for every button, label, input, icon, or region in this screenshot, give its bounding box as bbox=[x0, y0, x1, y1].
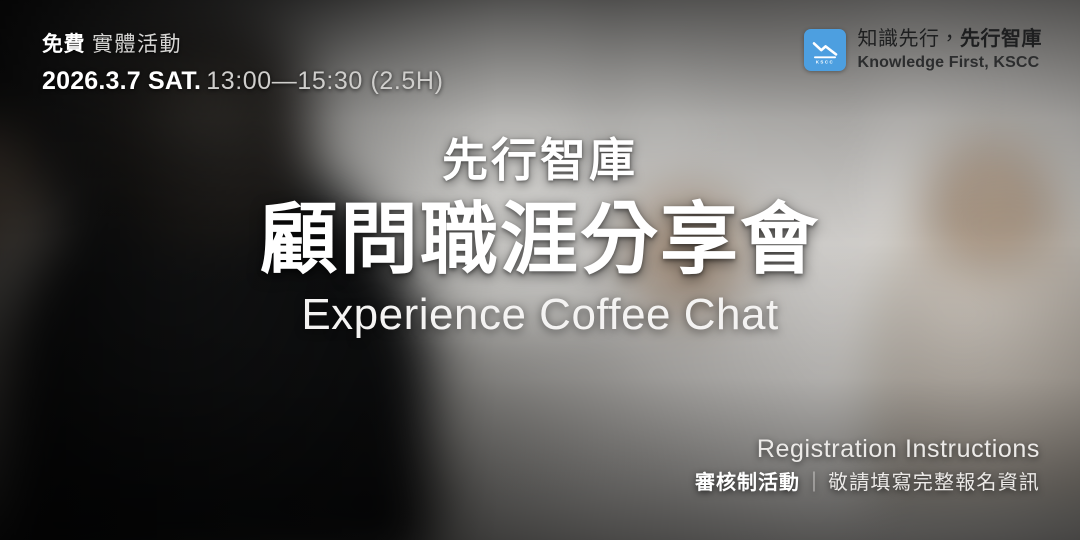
free-badge: 免費 bbox=[42, 33, 85, 56]
brand-logo-text: 知識先行，先行智庫 Knowledge First, KSCC bbox=[858, 27, 1043, 73]
brand-name-cn-bold: 先行智庫 bbox=[960, 28, 1042, 50]
event-type-line: 免費實體活動 bbox=[42, 32, 444, 59]
banner-content: 免費實體活動 2026.3.7 SAT.13:00—15:30 (2.5H) K… bbox=[0, 0, 1080, 540]
brand-name-en: Knowledge First, KSCC bbox=[858, 53, 1043, 73]
headline-stack: 先行智庫 顧問職涯分享會 Experience Coffee Chat bbox=[0, 136, 1080, 339]
event-meta-block: 免費實體活動 2026.3.7 SAT.13:00—15:30 (2.5H) bbox=[42, 32, 444, 97]
headline-subtitle: Experience Coffee Chat bbox=[0, 291, 1080, 339]
registration-heading-en: Registration Instructions bbox=[695, 433, 1040, 466]
registration-review-label: 審核制活動 bbox=[695, 472, 800, 494]
registration-separator: ｜ bbox=[804, 472, 824, 494]
format-label: 實體活動 bbox=[92, 33, 182, 56]
kscc-chart-mark-icon: KSCC bbox=[804, 29, 846, 71]
event-datetime-line: 2026.3.7 SAT.13:00—15:30 (2.5H) bbox=[42, 65, 444, 97]
event-time: 13:00—15:30 (2.5H) bbox=[206, 67, 443, 95]
headline-brand: 先行智庫 bbox=[0, 136, 1080, 186]
registration-instruction: 敬請填寫完整報名資訊 bbox=[828, 472, 1040, 494]
registration-block: Registration Instructions 審核制活動｜敬請填寫完整報名… bbox=[695, 433, 1040, 497]
headline-title: 顧問職涯分享會 bbox=[0, 196, 1080, 283]
brand-name-cn-light: 知識先行， bbox=[858, 28, 961, 50]
svg-text:KSCC: KSCC bbox=[815, 59, 833, 64]
event-banner: 免費實體活動 2026.3.7 SAT.13:00—15:30 (2.5H) K… bbox=[0, 0, 1080, 540]
registration-note-cn: 審核制活動｜敬請填寫完整報名資訊 bbox=[695, 470, 1040, 496]
brand-name-cn: 知識先行，先行智庫 bbox=[858, 27, 1043, 51]
event-date: 2026.3.7 SAT. bbox=[42, 67, 201, 95]
brand-logo-lockup: KSCC 知識先行，先行智庫 Knowledge First, KSCC bbox=[804, 27, 1043, 73]
